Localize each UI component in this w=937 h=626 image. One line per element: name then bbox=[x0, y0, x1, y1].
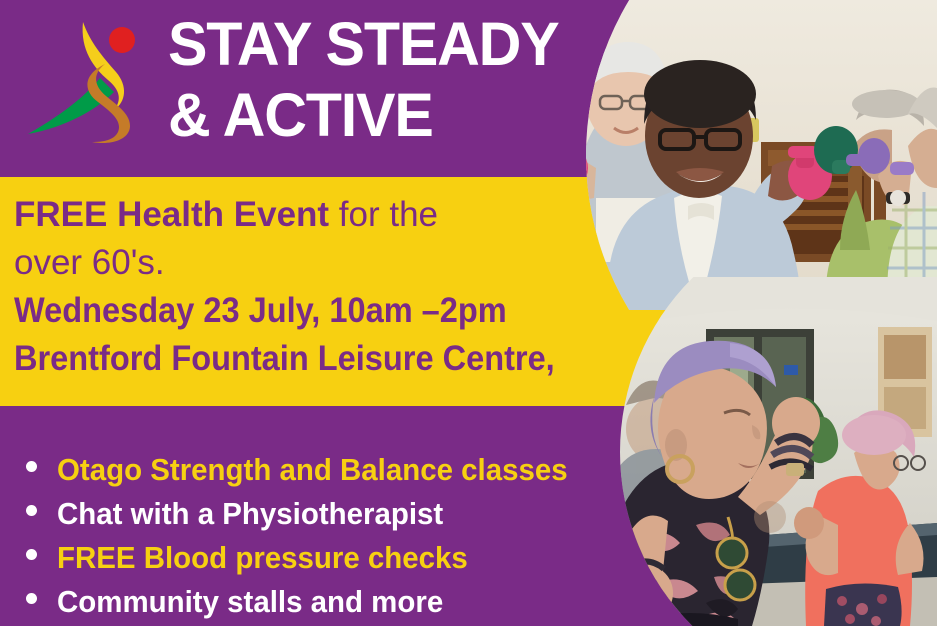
list-item: Chat with a Physiotherapist bbox=[16, 492, 636, 536]
list-item-label: Community stalls and more bbox=[57, 580, 443, 624]
list-item: Community stalls and more bbox=[16, 580, 636, 624]
event-audience: over 60's. bbox=[14, 239, 634, 287]
event-info: FREE Health Event for the over 60's. Wed… bbox=[14, 191, 634, 383]
list-item-label: Chat with a Physiotherapist bbox=[57, 492, 443, 536]
list-item: Otago Strength and Balance classes bbox=[16, 448, 636, 492]
photo-seniors-dumbbells bbox=[556, 0, 937, 310]
bullet-dot-icon bbox=[26, 505, 37, 516]
event-headline: FREE Health Event for the bbox=[14, 191, 634, 239]
activities-list: Otago Strength and Balance classes Chat … bbox=[16, 448, 636, 624]
bullet-dot-icon bbox=[26, 549, 37, 560]
poster-title: STAY STEADY & ACTIVE bbox=[168, 9, 598, 151]
poster: STAY STEADY & ACTIVE FREE Health Event f… bbox=[0, 0, 937, 626]
event-headline-rest: for the bbox=[329, 195, 438, 234]
bullet-dot-icon bbox=[26, 461, 37, 472]
event-datetime: Wednesday 23 July, 10am –2pm bbox=[14, 287, 591, 335]
list-item-label: Otago Strength and Balance classes bbox=[57, 448, 568, 492]
list-item: FREE Blood pressure checks bbox=[16, 536, 636, 580]
stay-steady-active-logo-icon bbox=[22, 16, 152, 148]
header: STAY STEADY & ACTIVE bbox=[0, 0, 640, 177]
title-line-2: & ACTIVE bbox=[168, 80, 585, 151]
photo-seniors-dance-class bbox=[610, 277, 937, 626]
event-headline-free: FREE Health Event bbox=[14, 195, 329, 234]
title-line-1: STAY STEADY bbox=[168, 9, 585, 80]
list-item-label: FREE Blood pressure checks bbox=[57, 536, 468, 580]
bullet-dot-icon bbox=[26, 593, 37, 604]
event-venue: Brentford Fountain Leisure Centre, bbox=[14, 335, 591, 383]
